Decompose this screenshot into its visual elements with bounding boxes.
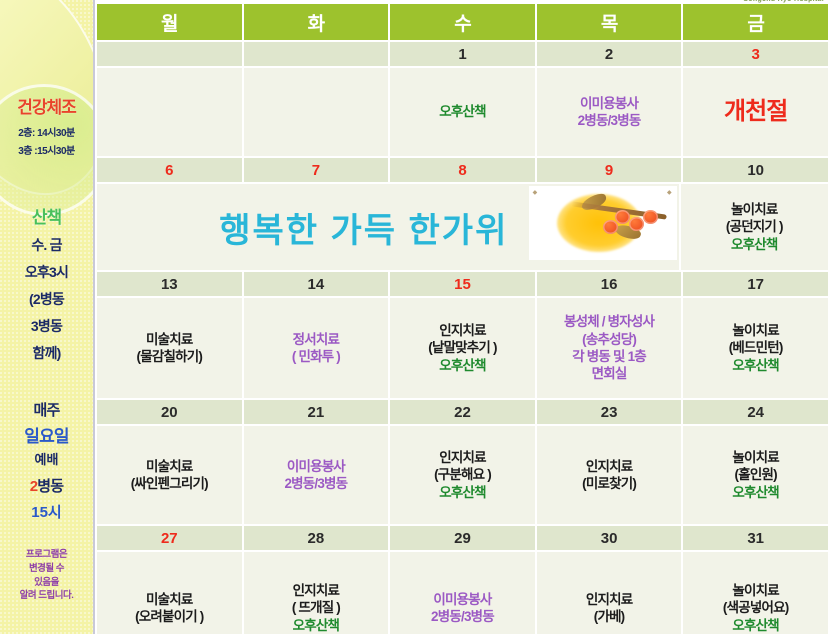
date-cell-2[interactable]: 2 <box>537 42 682 66</box>
program-line: 미술치료 <box>98 331 241 348</box>
date-cell-15[interactable]: 15 <box>390 272 535 296</box>
chuseok-moon-image: ◆◆ <box>529 186 677 260</box>
chuseok-greeting-text: 행복한 가득 한가위 <box>219 203 508 252</box>
sidebar-disclaimer: 프로그램은 변경될 수 있음을 알려 드립니다. <box>0 548 93 603</box>
program-line: 미술치료 <box>98 458 241 475</box>
date-cell-3[interactable]: 3 <box>683 42 828 66</box>
persimmon-shape <box>629 217 644 231</box>
logo-english-name: Songchu Hyo Hospital <box>743 0 824 3</box>
date-cell-21[interactable]: 21 <box>244 400 389 424</box>
date-cell-28[interactable]: 28 <box>244 526 389 550</box>
worship-sunday: 일요일 <box>0 422 93 447</box>
date-cell-24[interactable]: 24 <box>683 400 828 424</box>
program-line: (구분해요 ) <box>391 466 534 483</box>
program-line: 면회실 <box>538 365 681 382</box>
walk-ward2: (2병동 <box>0 289 93 309</box>
date-cell-27[interactable]: 27 <box>97 526 242 550</box>
day-cell-content[interactable]: 이미용봉사2병동/3병동 <box>537 68 682 156</box>
date-cell-20[interactable]: 20 <box>97 400 242 424</box>
day-cell-content[interactable]: 놀이치료(색공넣어요)오후산책 <box>683 552 828 634</box>
program-line: 오후산책 <box>684 617 827 634</box>
weekday-header-row: 월 화 수 목 금 <box>97 4 828 40</box>
program-line: 놀이치료 <box>684 322 827 339</box>
day-cell-content[interactable]: 놀이치료(베드민턴)오후산책 <box>683 298 828 398</box>
program-line: 오후산책 <box>391 103 534 120</box>
program-line: 이미용봉사 <box>538 95 681 112</box>
program-line: 미술치료 <box>98 591 241 608</box>
day-cell-content[interactable]: 놀이치료(공던지기 )오후산책 <box>681 184 828 270</box>
program-line: 개천절 <box>684 97 827 128</box>
date-cell-6[interactable]: 6 <box>97 158 242 182</box>
walk-title: 산책 <box>0 203 93 228</box>
program-line: 인지치료 <box>391 449 534 466</box>
day-cell-content[interactable] <box>244 68 389 156</box>
date-cell-9[interactable]: 9 <box>537 158 682 182</box>
program-line: 인지치료 <box>538 458 681 475</box>
walk-days: 수. 금 <box>0 235 93 255</box>
disclaimer-text: 프로그램은 변경될 수 있음을 알려 드립니다. <box>0 548 93 603</box>
worship-every: 매주 <box>0 399 93 420</box>
program-content-row: 미술치료(싸인펜그리기)이미용봉사2병동/3병동인지치료(구분해요 )오후산책인… <box>97 426 828 524</box>
program-line: 2병동/3병동 <box>245 475 388 492</box>
program-line: (낱말맞추기 ) <box>391 339 534 356</box>
program-line: 오후산책 <box>391 484 534 501</box>
day-cell-content[interactable]: 인지치료(구분해요 )오후산책 <box>390 426 535 524</box>
calendar-week-row: 2021222324미술치료(싸인펜그리기)이미용봉사2병동/3병동인지치료(구… <box>97 400 828 524</box>
program-line: 인지치료 <box>391 322 534 339</box>
date-cell-empty[interactable] <box>244 42 389 66</box>
day-cell-content[interactable]: 정서치료( 민화투 ) <box>244 298 389 398</box>
date-number-row: 2728293031 <box>97 526 828 550</box>
calendar-poster: 건강체조 2층: 14시30분 3층 :15시30분 산책 수. 금 오후3시 … <box>0 0 830 634</box>
program-line: (오려붙이기 ) <box>98 608 241 625</box>
date-number-row: 123 <box>97 42 828 66</box>
persimmon-shape <box>603 220 618 234</box>
day-cell-content[interactable] <box>97 68 242 156</box>
calendar-week-row: 1314151617미술치료(물감칠하기)정서치료( 민화투 )인지치료(낱말맞… <box>97 272 828 398</box>
calendar-week-row: 678910행복한 가득 한가위◆◆놀이치료(공던지기 )오후산책 <box>97 158 828 270</box>
date-cell-13[interactable]: 13 <box>97 272 242 296</box>
day-cell-content[interactable]: 미술치료(싸인펜그리기) <box>97 426 242 524</box>
program-line: 오후산책 <box>391 357 534 374</box>
calendar-week-row: 2728293031미술치료(오려붙이기 )인지치료( 뜨개질 )오후산책이미용… <box>97 526 828 634</box>
program-line: 인지치료 <box>245 582 388 599</box>
day-cell-content[interactable]: 이미용봉사2병동/3병동 <box>390 552 535 634</box>
day-cell-content[interactable]: 이미용봉사2병동/3병동 <box>244 426 389 524</box>
sidebar-walk-section: 산책 수. 금 오후3시 (2병동 3병동 함께) <box>0 203 93 363</box>
program-line: (싸인펜그리기) <box>98 475 241 492</box>
program-line: 인지치료 <box>538 591 681 608</box>
program-line: 각 병동 및 1층 <box>538 348 681 365</box>
date-cell-1[interactable]: 1 <box>390 42 535 66</box>
program-line: (공던지기 ) <box>682 218 827 235</box>
date-number-row: 2021222324 <box>97 400 828 424</box>
program-line: 이미용봉사 <box>391 591 534 608</box>
health-floor3-time: 3층 :15시30분 <box>0 142 93 157</box>
health-floor2-time: 2층: 14시30분 <box>0 124 93 139</box>
date-cell-10[interactable]: 10 <box>683 158 828 182</box>
program-line: 정서치료 <box>245 331 388 348</box>
date-cell-16[interactable]: 16 <box>537 272 682 296</box>
day-cell-content[interactable]: 오후산책 <box>390 68 535 156</box>
weekday-tue: 화 <box>244 4 389 40</box>
calendar-grid: 월 화 수 목 금 123오후산책이미용봉사2병동/3병동개천절678910행복… <box>95 4 830 634</box>
walk-together: 함께) <box>0 343 93 363</box>
program-line: (가베) <box>538 608 681 625</box>
day-cell-content[interactable]: 인지치료(미로찾기) <box>537 426 682 524</box>
weekday-wed: 수 <box>390 4 535 40</box>
date-cell-31[interactable]: 31 <box>683 526 828 550</box>
program-line: 오후산책 <box>684 484 827 501</box>
program-line: 놀이치료 <box>684 449 827 466</box>
program-line: 이미용봉사 <box>245 458 388 475</box>
date-cell-14[interactable]: 14 <box>244 272 389 296</box>
program-line: (송추성당) <box>538 331 681 348</box>
program-line: 2병동/3병동 <box>391 608 534 625</box>
sidebar-worship-section: 매주 일요일 예배 2병동 15시 <box>0 399 93 522</box>
program-line: (물감칠하기) <box>98 348 241 365</box>
day-cell-content[interactable]: 미술치료(물감칠하기) <box>97 298 242 398</box>
program-line: 봉성체 / 병자성사 <box>538 313 681 330</box>
date-cell-22[interactable]: 22 <box>390 400 535 424</box>
program-line: 놀이치료 <box>684 582 827 599</box>
date-cell-7[interactable]: 7 <box>244 158 389 182</box>
worship-time: 15시 <box>0 501 93 522</box>
date-cell-17[interactable]: 17 <box>683 272 828 296</box>
health-exercise-title: 건강체조 <box>0 93 93 118</box>
walk-ward3: 3병동 <box>0 316 93 336</box>
weekday-thu: 목 <box>537 4 682 40</box>
program-content-row: 미술치료(물감칠하기)정서치료( 민화투 )인지치료(낱말맞추기 )오후산책봉성… <box>97 298 828 398</box>
persimmon-shape <box>643 210 658 224</box>
day-cell-content[interactable]: 미술치료(오려붙이기 ) <box>97 552 242 634</box>
program-line: 오후산책 <box>682 236 827 253</box>
program-line: 오후산책 <box>245 617 388 634</box>
main-area: 2025년 10 월 사회복지 프로그램 송추효 <box>95 0 830 634</box>
date-cell-30[interactable]: 30 <box>537 526 682 550</box>
program-line: (미로찾기) <box>538 475 681 492</box>
program-line: (베드민턴) <box>684 339 827 356</box>
day-cell-content[interactable]: 놀이치료(홀인원)오후산책 <box>683 426 828 524</box>
persimmon-shape <box>615 210 630 224</box>
poster-header: 2025년 10 월 사회복지 프로그램 송추효 <box>95 0 830 4</box>
worship-ward-text: 병동 <box>37 478 63 495</box>
worship-label: 예배 <box>0 449 93 468</box>
program-line: (색공넣어요) <box>684 599 827 616</box>
weekday-mon: 월 <box>97 4 242 40</box>
worship-ward: 2병동 <box>0 475 93 496</box>
day-cell-content[interactable]: 개천절 <box>683 68 828 156</box>
date-number-row: 1314151617 <box>97 272 828 296</box>
program-line: (홀인원) <box>684 466 827 483</box>
date-cell-8[interactable]: 8 <box>390 158 535 182</box>
program-line: ( 뜨개질 ) <box>245 599 388 616</box>
sidebar-info-panel: 건강체조 2층: 14시30분 3층 :15시30분 산책 수. 금 오후3시 … <box>0 0 95 634</box>
day-cell-content[interactable]: 인지치료(가베) <box>537 552 682 634</box>
program-line: 놀이치료 <box>682 201 827 218</box>
calendar-week-row: 123오후산책이미용봉사2병동/3병동개천절 <box>97 42 828 156</box>
program-content-row: 오후산책이미용봉사2병동/3병동개천절 <box>97 68 828 156</box>
program-line: ( 민화투 ) <box>245 348 388 365</box>
day-cell-content[interactable]: 봉성체 / 병자성사(송추성당)각 병동 및 1층면회실 <box>537 298 682 398</box>
day-cell-content[interactable]: 인지치료( 뜨개질 )오후산책 <box>244 552 389 634</box>
program-content-row: 미술치료(오려붙이기 )인지치료( 뜨개질 )오후산책이미용봉사2병동/3병동인… <box>97 552 828 634</box>
date-number-row: 678910 <box>97 158 828 182</box>
program-line: 2병동/3병동 <box>538 112 681 129</box>
date-cell-23[interactable]: 23 <box>537 400 682 424</box>
sidebar-health-section: 건강체조 2층: 14시30분 3층 :15시30분 <box>0 93 93 157</box>
calendar-weeks: 123오후산책이미용봉사2병동/3병동개천절678910행복한 가득 한가위◆◆… <box>97 40 828 634</box>
date-cell-empty[interactable] <box>97 42 242 66</box>
chuseok-banner-row: 행복한 가득 한가위◆◆놀이치료(공던지기 )오후산책 <box>97 184 828 270</box>
weekday-fri: 금 <box>683 4 828 40</box>
date-cell-29[interactable]: 29 <box>390 526 535 550</box>
program-line: 오후산책 <box>684 357 827 374</box>
chuseok-greeting-cell: 행복한 가득 한가위◆◆ <box>97 184 679 270</box>
walk-time: 오후3시 <box>0 262 93 282</box>
day-cell-content[interactable]: 인지치료(낱말맞추기 )오후산책 <box>390 298 535 398</box>
